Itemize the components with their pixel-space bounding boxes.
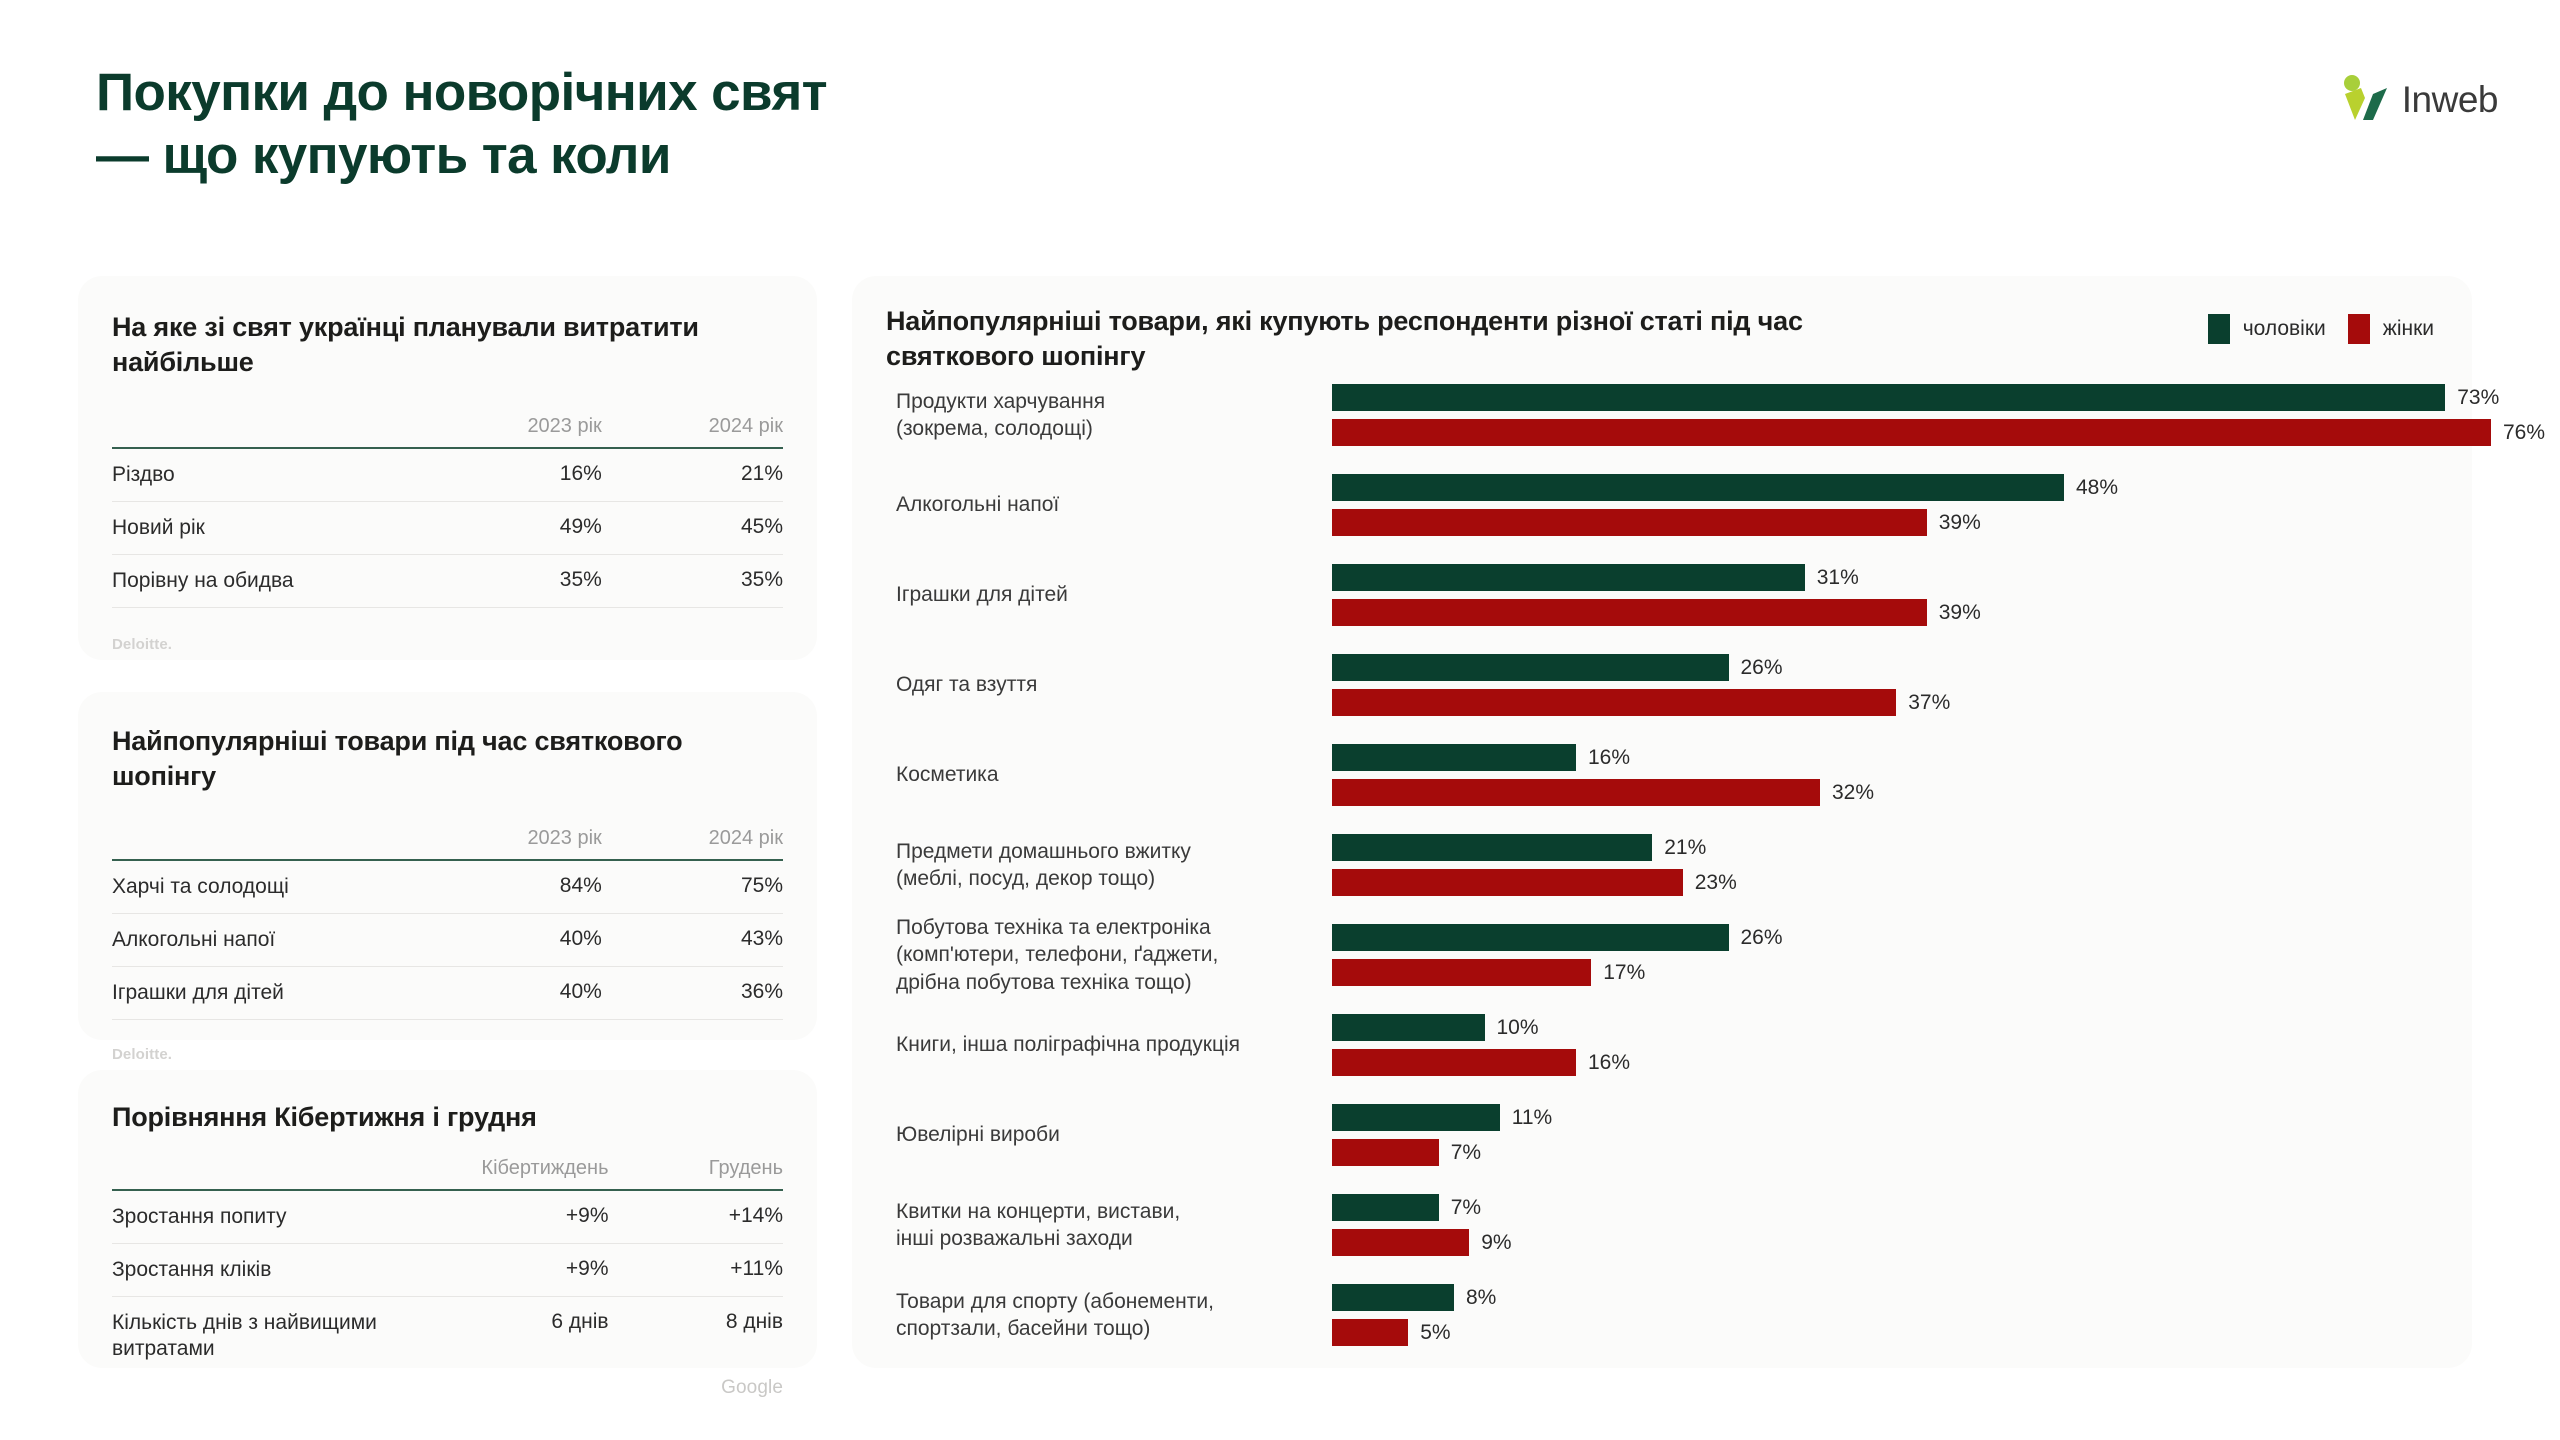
bar-value-women: 32% — [1832, 779, 1874, 806]
bar-value-men: 26% — [1741, 654, 1783, 681]
card-cyberweek-december: Порівняння Кібертижня і грудня Кібертижд… — [78, 1070, 817, 1368]
bar-value-women: 16% — [1588, 1049, 1630, 1076]
col-header-2023: 2023 рік — [421, 415, 602, 448]
bar-category-label: Іграшки для дітей — [896, 581, 1316, 608]
logo-wordmark: Inweb — [2402, 81, 2498, 118]
bar-women — [1332, 1139, 1439, 1166]
bar-men — [1332, 1194, 1439, 1221]
bar-group: Побутова техніка та електроніка(комп'юте… — [852, 924, 2472, 986]
bar-men — [1332, 834, 1652, 861]
row-value-2024: 21% — [602, 448, 783, 502]
bar-category-label: Книги, інша поліграфічна продукція — [896, 1031, 1316, 1058]
bar-men — [1332, 384, 2445, 411]
bar-category-label: Продукти харчування(зокрема, солодощі) — [896, 388, 1316, 443]
page-title: Покупки до новорічних свят — що купують … — [96, 62, 827, 187]
bar-group: Книги, інша поліграфічна продукція10%16% — [852, 1014, 2472, 1076]
table-row: Алкогольні напої 40% 43% — [112, 914, 783, 967]
row-label: Зростання попиту — [112, 1190, 407, 1244]
bar-value-men: 26% — [1741, 924, 1783, 951]
bar-value-men: 16% — [1588, 744, 1630, 771]
bar-value-women: 17% — [1603, 959, 1645, 986]
page-title-line-1: Покупки до новорічних свят — [96, 62, 827, 125]
bar-group: Алкогольні напої48%39% — [852, 474, 2472, 536]
bar-chart-plot: Продукти харчування(зокрема, солодощі)73… — [852, 276, 2472, 1368]
bar-category-label: Побутова техніка та електроніка(комп'юте… — [896, 914, 1316, 996]
bar-value-men: 7% — [1451, 1194, 1481, 1221]
bar-women — [1332, 869, 1683, 896]
table-row: Іграшки для дітей 40% 36% — [112, 967, 783, 1020]
col-header-2024: 2024 рік — [602, 827, 783, 860]
row-label: Різдво — [112, 448, 421, 502]
bar-group: Квитки на концерти, вистави,інші розважа… — [852, 1194, 2472, 1256]
col-header-label — [112, 1157, 407, 1190]
row-value-2024: 35% — [602, 555, 783, 608]
row-value-2023: 40% — [421, 914, 602, 967]
bar-value-men: 31% — [1817, 564, 1859, 591]
bar-value-women: 9% — [1481, 1229, 1511, 1256]
bar-women — [1332, 689, 1896, 716]
page-header: Покупки до новорічних свят — що купують … — [96, 62, 827, 187]
bar-men — [1332, 1284, 1454, 1311]
source-attribution: Deloitte. — [112, 1046, 783, 1063]
bar-value-men: 10% — [1497, 1014, 1539, 1041]
table-header-row: Кібертиждень Грудень — [112, 1157, 783, 1190]
table-row: Новий рік 49% 45% — [112, 502, 783, 555]
bar-women — [1332, 599, 1927, 626]
col-header-december: Грудень — [609, 1157, 783, 1190]
brand-logo: Inweb — [2341, 74, 2498, 124]
bar-category-label: Косметика — [896, 761, 1316, 788]
bar-men — [1332, 474, 2064, 501]
source-attribution: Deloitte. — [112, 636, 783, 653]
card-title: На яке зі свят українці планували витрат… — [112, 310, 783, 379]
row-label: Алкогольні напої — [112, 914, 421, 967]
card-popular-goods: Найпопулярніші товари під час святкового… — [78, 692, 817, 1040]
table-row: Різдво 16% 21% — [112, 448, 783, 502]
bar-value-women: 5% — [1420, 1319, 1450, 1346]
col-header-2023: 2023 рік — [421, 827, 602, 860]
stats-table: 2023 рік 2024 рік Різдво 16% 21% Новий р… — [112, 415, 783, 608]
bar-category-label: Алкогольні напої — [896, 491, 1316, 518]
bar-women — [1332, 959, 1591, 986]
bar-category-label: Товари для спорту (абонементи,спортзали,… — [896, 1288, 1316, 1343]
row-label: Іграшки для дітей — [112, 967, 421, 1020]
row-label: Кількість днів з найвищими витратами — [112, 1296, 407, 1375]
row-value-cyberweek: +9% — [407, 1243, 608, 1296]
bar-women — [1332, 779, 1820, 806]
inweb-w-logo-icon — [2341, 74, 2393, 124]
row-value-december: +11% — [609, 1243, 783, 1296]
bar-group: Предмети домашнього вжитку(меблі, посуд,… — [852, 834, 2472, 896]
bar-value-women: 76% — [2503, 419, 2545, 446]
bar-men — [1332, 924, 1729, 951]
row-value-2023: 49% — [421, 502, 602, 555]
bar-value-men: 73% — [2457, 384, 2499, 411]
row-value-2024: 45% — [602, 502, 783, 555]
row-value-2024: 75% — [602, 860, 783, 914]
bar-group: Іграшки для дітей31%39% — [852, 564, 2472, 626]
col-header-2024: 2024 рік — [602, 415, 783, 448]
bar-men — [1332, 564, 1805, 591]
bar-value-men: 8% — [1466, 1284, 1496, 1311]
card-title: Порівняння Кібертижня і грудня — [112, 1100, 783, 1135]
bar-group: Косметика16%32% — [852, 744, 2472, 806]
bar-women — [1332, 419, 2491, 446]
bar-value-women: 7% — [1451, 1139, 1481, 1166]
col-header-label — [112, 415, 421, 448]
col-header-cyberweek: Кібертиждень — [407, 1157, 608, 1190]
bar-category-label: Предмети домашнього вжитку(меблі, посуд,… — [896, 838, 1316, 893]
bar-women — [1332, 1319, 1408, 1346]
source-attribution: Google — [112, 1377, 783, 1399]
row-value-december: +14% — [609, 1190, 783, 1244]
bar-category-label: Одяг та взуття — [896, 671, 1316, 698]
table-row: Кількість днів з найвищими витратами 6 д… — [112, 1296, 783, 1375]
row-value-2023: 40% — [421, 967, 602, 1020]
row-label: Харчі та солодощі — [112, 860, 421, 914]
bar-value-men: 11% — [1512, 1104, 1552, 1131]
bar-value-women: 39% — [1939, 599, 1981, 626]
bar-women — [1332, 1049, 1576, 1076]
row-value-2023: 16% — [421, 448, 602, 502]
table-row: Зростання попиту +9% +14% — [112, 1190, 783, 1244]
row-label: Новий рік — [112, 502, 421, 555]
row-label: Порівну на обидва — [112, 555, 421, 608]
table-row: Порівну на обидва 35% 35% — [112, 555, 783, 608]
bar-value-women: 37% — [1908, 689, 1950, 716]
bar-category-label: Квитки на концерти, вистави,інші розважа… — [896, 1198, 1316, 1253]
bar-group: Ювелірні вироби11%7% — [852, 1104, 2472, 1166]
bar-category-label: Ювелірні вироби — [896, 1121, 1316, 1148]
infographic-page: Покупки до новорічних свят — що купують … — [0, 0, 2560, 1440]
row-value-cyberweek: +9% — [407, 1190, 608, 1244]
row-value-2024: 36% — [602, 967, 783, 1020]
row-value-2024: 43% — [602, 914, 783, 967]
bar-value-men: 21% — [1664, 834, 1706, 861]
bar-men — [1332, 654, 1729, 681]
bar-value-men: 48% — [2076, 474, 2118, 501]
bar-men — [1332, 1104, 1500, 1131]
row-value-cyberweek: 6 днів — [407, 1296, 608, 1375]
table-header-row: 2023 рік 2024 рік — [112, 827, 783, 860]
bar-group: Товари для спорту (абонементи,спортзали,… — [852, 1284, 2472, 1346]
bar-women — [1332, 509, 1927, 536]
chart-panel: Найпопулярніші товари, які купують респо… — [852, 276, 2472, 1368]
row-value-2023: 84% — [421, 860, 602, 914]
table-row: Зростання кліків +9% +11% — [112, 1243, 783, 1296]
page-title-line-2: — що купують та коли — [96, 125, 827, 188]
col-header-label — [112, 827, 421, 860]
row-value-december: 8 днів — [609, 1296, 783, 1375]
bar-men — [1332, 744, 1576, 771]
card-holiday-spending: На яке зі свят українці планували витрат… — [78, 276, 817, 660]
card-title: Найпопулярніші товари під час святкового… — [112, 724, 783, 793]
table-row: Харчі та солодощі 84% 75% — [112, 860, 783, 914]
row-value-2023: 35% — [421, 555, 602, 608]
row-label: Зростання кліків — [112, 1243, 407, 1296]
bar-men — [1332, 1014, 1485, 1041]
bar-women — [1332, 1229, 1469, 1256]
bar-group: Продукти харчування(зокрема, солодощі)73… — [852, 384, 2472, 446]
bar-group: Одяг та взуття26%37% — [852, 654, 2472, 716]
stats-table: Кібертиждень Грудень Зростання попиту +9… — [112, 1157, 783, 1375]
table-header-row: 2023 рік 2024 рік — [112, 415, 783, 448]
stats-table: 2023 рік 2024 рік Харчі та солодощі 84% … — [112, 827, 783, 1020]
bar-value-women: 23% — [1695, 869, 1737, 896]
bar-value-women: 39% — [1939, 509, 1981, 536]
